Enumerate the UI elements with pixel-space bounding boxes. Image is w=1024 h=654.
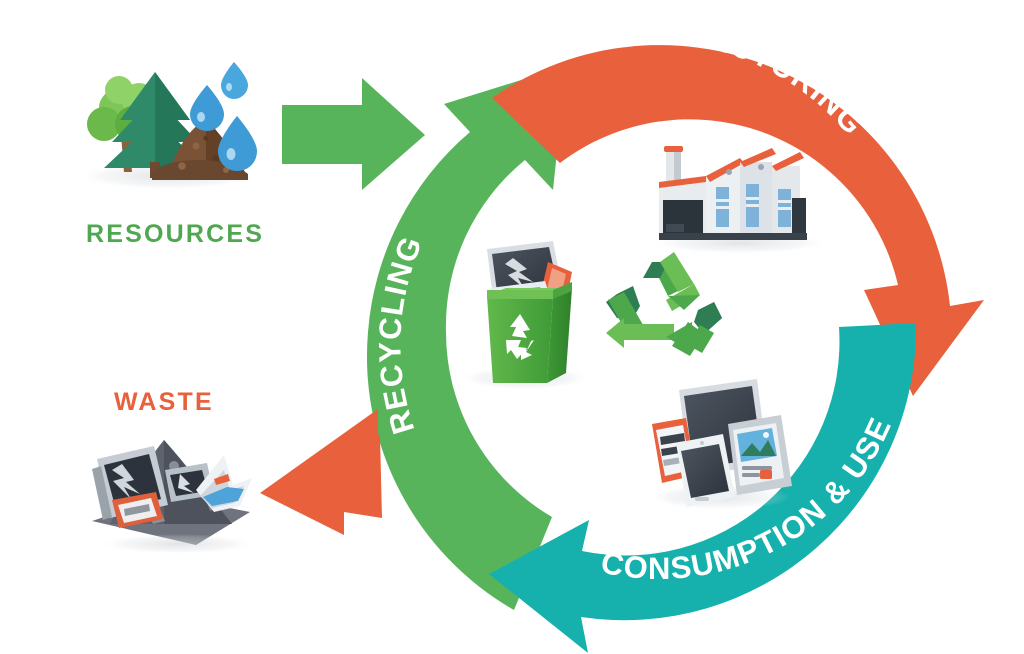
resources-illustration — [76, 62, 260, 190]
waste-label: WASTE — [114, 388, 214, 416]
recycle-mobius-symbol-icon — [606, 252, 722, 356]
waste-illustration — [92, 440, 256, 554]
digital-camera-icon — [728, 415, 792, 495]
factory-icon — [659, 146, 807, 240]
resources-label: RESOURCES — [86, 220, 264, 248]
circular-economy-diagram: RECYCLING MANUFACTURING CONSUMPTION & US… — [0, 0, 1024, 654]
arrow-resources-to-cycle[interactable] — [282, 78, 425, 190]
diagram-canvas: RECYCLING MANUFACTURING CONSUMPTION & US… — [0, 0, 1024, 654]
factory-illustration — [650, 146, 830, 254]
arrow-resources-to-cycle-shape — [282, 78, 425, 190]
recycling-bin-icon — [487, 282, 572, 383]
devices-illustration — [646, 379, 792, 510]
arrow-cycle-to-waste-shape — [260, 409, 382, 535]
recycling-bin-illustration — [459, 241, 591, 390]
arrow-cycle-to-waste[interactable] — [260, 409, 382, 535]
